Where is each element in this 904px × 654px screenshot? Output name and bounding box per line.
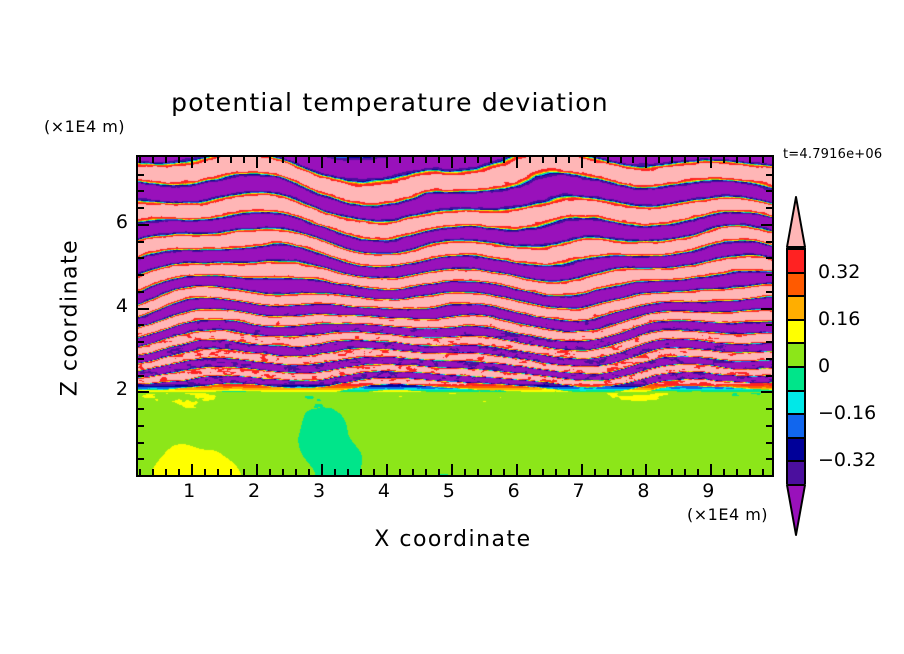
axis-tick <box>217 469 219 475</box>
axis-tick <box>308 469 310 475</box>
axis-tick <box>749 157 751 163</box>
axis-tick <box>697 469 699 475</box>
axis-tick <box>138 207 144 209</box>
x-axis-title: X coordinate <box>136 527 770 552</box>
axis-tick <box>581 157 583 168</box>
axis-tick <box>360 157 362 163</box>
axis-tick <box>138 291 144 293</box>
colorbar-tick-label: −0.16 <box>818 402 876 424</box>
axis-tick <box>138 241 144 243</box>
x-tick-label: 9 <box>702 480 714 502</box>
axis-tick <box>620 469 622 475</box>
axis-tick <box>282 469 284 475</box>
x-axis-unit-label: (×1E4 m) <box>687 505 768 524</box>
axis-tick <box>766 324 772 326</box>
axis-tick <box>766 274 772 276</box>
axis-tick <box>632 469 634 475</box>
axis-tick <box>138 375 144 377</box>
axis-tick <box>138 257 144 259</box>
figure-root: potential temperature deviation (×1E4 m)… <box>0 0 904 654</box>
axis-tick <box>138 274 144 276</box>
axis-tick <box>761 391 772 393</box>
contour-field <box>138 157 772 475</box>
axis-tick <box>723 157 725 163</box>
axis-tick <box>386 464 388 475</box>
axis-tick <box>607 157 609 163</box>
axis-tick <box>269 469 271 475</box>
axis-tick <box>139 157 141 163</box>
colorbar-bands <box>786 248 806 484</box>
colorbar-band <box>788 250 804 274</box>
colorbar-cap-top <box>786 196 806 248</box>
axis-tick <box>632 157 634 163</box>
axis-tick <box>749 469 751 475</box>
axis-tick <box>282 157 284 163</box>
axis-tick <box>360 469 362 475</box>
colorbar-band <box>788 274 804 298</box>
colorbar-band <box>788 439 804 463</box>
axis-tick <box>451 157 453 168</box>
axis-tick <box>165 157 167 163</box>
colorbar-band <box>788 392 804 416</box>
axis-tick <box>736 469 738 475</box>
axis-tick <box>766 358 772 360</box>
axis-tick <box>243 157 245 163</box>
axis-tick <box>766 408 772 410</box>
axis-tick <box>425 469 427 475</box>
axis-tick <box>766 425 772 427</box>
x-tick-label: 4 <box>378 480 390 502</box>
axis-tick <box>204 469 206 475</box>
colorbar-tick-label: 0.32 <box>818 261 860 283</box>
axis-tick <box>645 157 647 168</box>
axis-tick <box>736 157 738 163</box>
axis-tick <box>542 469 544 475</box>
x-tick-label: 8 <box>637 480 649 502</box>
colorbar-band <box>788 344 804 368</box>
axis-tick <box>438 157 440 163</box>
colorbar-tick-label: −0.32 <box>818 449 876 471</box>
colorbar-band <box>788 415 804 439</box>
axis-tick <box>697 157 699 163</box>
axis-tick <box>399 469 401 475</box>
axis-tick <box>334 157 336 163</box>
axis-tick <box>243 469 245 475</box>
axis-tick <box>477 469 479 475</box>
axis-tick <box>477 157 479 163</box>
axis-tick <box>138 425 144 427</box>
axis-tick <box>761 475 772 477</box>
axis-tick <box>658 157 660 163</box>
axis-tick <box>671 157 673 163</box>
axis-tick <box>138 190 144 192</box>
colorbar-tick-label: 0 <box>818 355 830 377</box>
axis-tick <box>138 391 149 393</box>
axis-tick <box>399 157 401 163</box>
axis-tick <box>295 157 297 163</box>
axis-tick <box>568 157 570 163</box>
axis-tick <box>138 174 144 176</box>
axis-tick <box>490 157 492 163</box>
axis-tick <box>230 157 232 163</box>
axis-tick <box>581 464 583 475</box>
axis-tick <box>503 157 505 163</box>
axis-tick <box>464 157 466 163</box>
axis-tick <box>152 469 154 475</box>
colorbar-band <box>788 368 804 392</box>
axis-tick <box>138 324 144 326</box>
axis-tick <box>138 442 144 444</box>
axis-tick <box>710 464 712 475</box>
axis-tick <box>438 469 440 475</box>
axis-tick <box>138 408 144 410</box>
axis-tick <box>217 157 219 163</box>
x-tick-label: 6 <box>508 480 520 502</box>
axis-tick <box>542 157 544 163</box>
axis-tick <box>766 257 772 259</box>
axis-tick <box>464 469 466 475</box>
axis-tick <box>645 464 647 475</box>
axis-tick <box>152 157 154 163</box>
axis-tick <box>321 464 323 475</box>
y-tick-label: 6 <box>98 211 128 233</box>
axis-tick <box>762 157 764 163</box>
axis-tick <box>191 157 193 168</box>
axis-tick <box>607 469 609 475</box>
axis-tick <box>516 464 518 475</box>
timestamp-annotation: t=4.7916e+06 <box>783 147 882 162</box>
axis-tick <box>555 157 557 163</box>
axis-tick <box>723 469 725 475</box>
axis-tick <box>671 469 673 475</box>
colorbar-band <box>788 297 804 321</box>
axis-tick <box>766 375 772 377</box>
axis-tick <box>295 469 297 475</box>
axis-tick <box>165 469 167 475</box>
axis-tick <box>178 157 180 163</box>
axis-tick <box>761 308 772 310</box>
axis-tick <box>490 469 492 475</box>
x-tick-label: 5 <box>443 480 455 502</box>
axis-tick <box>256 464 258 475</box>
axis-tick <box>347 469 349 475</box>
y-tick-label: 4 <box>98 295 128 317</box>
axis-tick <box>138 458 144 460</box>
y-tick-label: 2 <box>98 378 128 400</box>
y-axis-title: Z coordinate <box>58 218 83 418</box>
y-axis-unit-label: (×1E4 m) <box>44 117 125 136</box>
axis-tick <box>334 469 336 475</box>
axis-tick <box>710 157 712 168</box>
x-tick-label: 7 <box>573 480 585 502</box>
axis-tick <box>347 157 349 163</box>
axis-tick <box>594 469 596 475</box>
axis-tick <box>766 341 772 343</box>
axis-tick <box>766 174 772 176</box>
axis-tick <box>191 464 193 475</box>
axis-tick <box>555 469 557 475</box>
axis-tick <box>529 157 531 163</box>
axis-tick <box>620 157 622 163</box>
axis-tick <box>373 469 375 475</box>
x-tick-label: 1 <box>183 480 195 502</box>
axis-tick <box>516 157 518 168</box>
colorbar-band <box>788 462 804 486</box>
axis-tick <box>684 469 686 475</box>
axis-tick <box>503 469 505 475</box>
x-tick-label: 2 <box>248 480 260 502</box>
x-tick-label: 3 <box>313 480 325 502</box>
axis-tick <box>684 157 686 163</box>
axis-tick <box>451 464 453 475</box>
page-title: potential temperature deviation <box>0 88 780 117</box>
axis-tick <box>529 469 531 475</box>
axis-tick <box>766 291 772 293</box>
axis-tick <box>568 469 570 475</box>
axis-tick <box>269 157 271 163</box>
axis-tick <box>204 157 206 163</box>
colorbar-tick-label: 0.16 <box>818 308 860 330</box>
axis-tick <box>412 469 414 475</box>
axis-tick <box>766 442 772 444</box>
axis-tick <box>761 224 772 226</box>
axis-tick <box>138 475 149 477</box>
axis-tick <box>386 157 388 168</box>
axis-tick <box>425 157 427 163</box>
axis-tick <box>256 157 258 168</box>
axis-tick <box>178 469 180 475</box>
axis-tick <box>412 157 414 163</box>
axis-tick <box>766 207 772 209</box>
axis-tick <box>138 224 149 226</box>
axis-tick <box>658 469 660 475</box>
colorbar-cap-bottom <box>786 484 806 536</box>
axis-tick <box>230 469 232 475</box>
axis-tick <box>373 157 375 163</box>
axis-tick <box>138 308 149 310</box>
axis-tick <box>321 157 323 168</box>
axis-tick <box>766 190 772 192</box>
axis-tick <box>766 241 772 243</box>
axis-tick <box>766 458 772 460</box>
axis-tick <box>594 157 596 163</box>
axis-tick <box>308 157 310 163</box>
axis-tick <box>138 341 144 343</box>
plot-area <box>136 155 774 477</box>
axis-tick <box>138 358 144 360</box>
colorbar-band <box>788 321 804 345</box>
